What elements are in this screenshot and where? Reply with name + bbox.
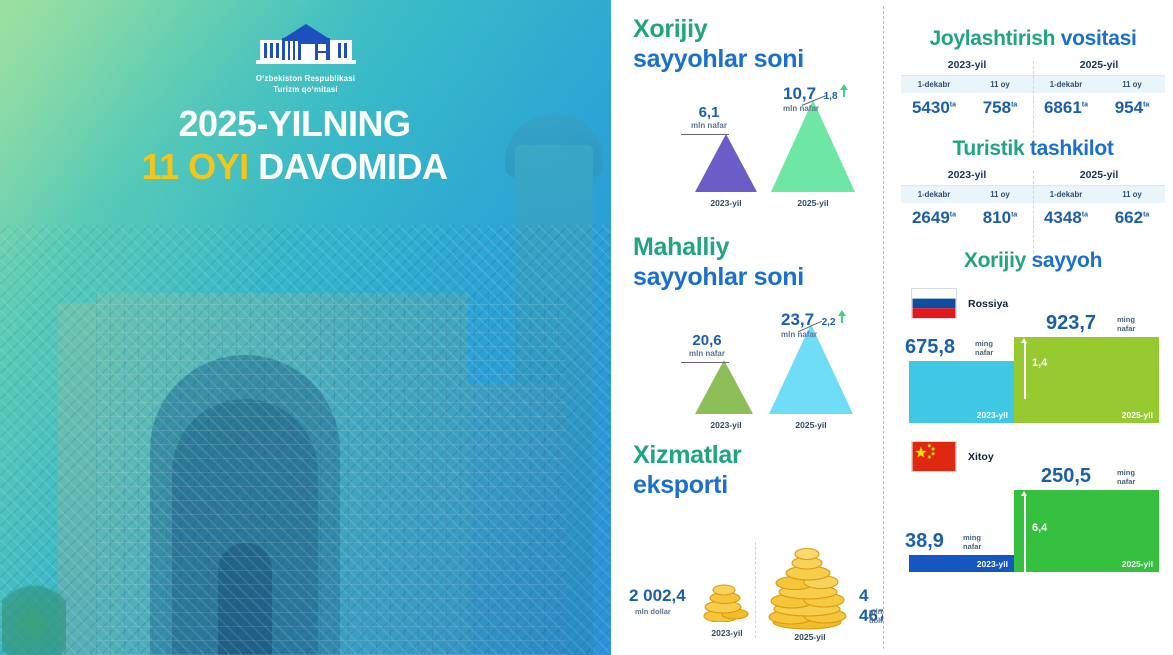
leader-line-2023 (681, 362, 729, 363)
value-3: 954 (1115, 98, 1143, 117)
color-overlay (0, 0, 611, 655)
sub-header-3: 11 oy (1099, 76, 1165, 93)
title-word-1: Xorijiy (633, 15, 707, 43)
headline-accent: 11 OYI (142, 146, 249, 187)
services-export-chart: 2 002,4 mln dollar 2023-yil (633, 534, 883, 644)
coin-stack-large-icon (765, 544, 855, 630)
title-word-2: sayyohlar soni (633, 263, 804, 291)
year-header-2023: 2023-yil (901, 169, 1033, 185)
arrow-up-icon (840, 84, 848, 97)
coin-stack-small-icon (699, 570, 759, 622)
xitoy-bar-chart: 2023-yil 2025-yil 6,4 38,9 mingnafar 250… (901, 480, 1165, 572)
rossiya-bar-chart: 2023-yil 2025-yil 1,4 675,8 mingnafar 92… (901, 325, 1165, 423)
foreign-tourists-chart: 6,1 mln nafar 2023-yil 10,7 1,8 mln nafa… (633, 82, 883, 214)
year-header-2025: 2025-yil (1033, 59, 1165, 75)
year-header-2023: 2023-yil (901, 59, 1033, 75)
xitoy-2023-value: 38,9 (905, 530, 944, 553)
foreign-growth-value: 1,8 (824, 91, 838, 102)
leader-line-2023 (681, 134, 729, 135)
committee-logo: O‘zbekiston Respublikasi Turizm qo‘mitas… (252, 22, 360, 95)
value-cell-3: 954ta (1099, 98, 1165, 118)
logo-line-2: Turizm qo‘mitasi (252, 85, 360, 96)
bar-year-2025: 2025-yil (1122, 410, 1153, 420)
right-column: Joylashtirish vositasi 2023-yil 2025-yil… (883, 0, 1173, 655)
logo-line-1: O‘zbekiston Respublikasi (252, 74, 360, 85)
section-foreign-tourists: Xorijiy sayyohlar soni 6,1 mln nafar 202… (633, 0, 883, 214)
sub-header-2: 1-dekabr (1033, 76, 1099, 93)
value-suffix-0: ta (950, 211, 956, 218)
bar-rossiya-2023: 2023-yil (909, 361, 1014, 423)
services-export-title: Xizmatlar eksporti (633, 440, 883, 500)
title-word-2: tashkilot (1030, 137, 1114, 160)
xitoy-growth-value: 6,4 (1032, 522, 1047, 534)
value-2: 6861 (1044, 98, 1082, 117)
value-cell-1: 810ta (967, 208, 1033, 228)
headline-line-2: 11 OYI DAVOMIDA (0, 145, 589, 189)
value-cell-3: 662ta (1099, 208, 1165, 228)
value-0: 5430 (912, 98, 950, 117)
section-services-export: Xizmatlar eksporti 2 002,4 mln dollar (633, 436, 883, 644)
accommodation-table: 2023-yil 2025-yil 1-dekabr 11 oy 1-dekab… (901, 59, 1165, 118)
hero-photo-panel: O‘zbekiston Respublikasi Turizm qo‘mitas… (0, 0, 611, 655)
title-word-2: sayyoh (1032, 249, 1103, 272)
services-2023-year: 2023-yil (689, 628, 765, 638)
foreign-2023-unit: mln nafar (673, 121, 745, 130)
local-2025-value: 23,7 (781, 310, 814, 329)
tour-organizations-table: 2023-yil 2025-yil 1-dekabr 11 oy 1-dekab… (901, 169, 1165, 228)
logo-caption: O‘zbekiston Respublikasi Turizm qo‘mitas… (252, 74, 360, 95)
services-2023-unit: mln dollar (635, 607, 671, 616)
china-flag-icon (911, 441, 957, 472)
logo-block: O‘zbekiston Respublikasi Turizm qo‘mitas… (0, 22, 611, 97)
local-2023-year: 2023-yil (681, 420, 771, 430)
headline-block: 2025-YILNING 11 OYI DAVOMIDA (0, 103, 611, 189)
foreign-2023-year: 2023-yil (681, 198, 771, 208)
value-suffix-0: ta (950, 101, 956, 108)
title-word-2: sayyohlar soni (633, 45, 804, 73)
title-word-1: Mahalliy (633, 233, 729, 261)
local-2025-year: 2025-yil (761, 420, 861, 430)
xitoy-2023-unit: mingnafar (963, 534, 1003, 551)
value-suffix-3: ta (1143, 211, 1149, 218)
accommodation-title: Joylashtirish vositasi (901, 26, 1165, 52)
local-growth-value: 2,2 (822, 317, 836, 328)
country-name-rossiya: Rossiya (968, 298, 1008, 310)
title-word-1: Joylashtirish (929, 27, 1055, 50)
foreign-2025-year: 2025-yil (763, 198, 863, 208)
rossiya-2023-value: 675,8 (905, 336, 955, 359)
bar-year-2025: 2025-yil (1122, 559, 1153, 569)
value-1: 758 (983, 98, 1011, 117)
title-word-2: eksporti (633, 471, 728, 499)
rossiya-2025-value: 923,7 (1046, 312, 1096, 335)
arrow-up-icon (1021, 491, 1027, 496)
foreign-2025-unit: mln nafar (783, 104, 893, 113)
value-suffix-2: ta (1082, 101, 1088, 108)
title-word-1: Xorijiy (964, 249, 1026, 272)
value-cell-0: 2649ta (901, 208, 967, 228)
value-suffix-1: ta (1011, 211, 1017, 218)
middle-column: Xorijiy sayyohlar soni 6,1 mln nafar 202… (611, 0, 883, 655)
title-word-1: Xizmatlar (633, 441, 741, 469)
triangle-bar-2025 (771, 100, 855, 192)
foreign-2025-value: 10,7 (783, 84, 816, 103)
foreign-tourists-title: Xorijiy sayyohlar soni (633, 14, 883, 74)
rossiya-2023-unit: mingnafar (975, 340, 1015, 357)
bar-xitoy-2023: 2023-yil (909, 555, 1014, 572)
section-foreign-tourist-countries: Xorijiy sayyoh Rossiya 2023-yil 2025-yil (883, 228, 1173, 572)
value-cell-2: 6861ta (1033, 98, 1099, 118)
arrow-up-icon (1021, 338, 1027, 343)
value-suffix-1: ta (1011, 101, 1017, 108)
sub-header-3: 11 oy (1099, 186, 1165, 203)
value-suffix-2: ta (1082, 211, 1088, 218)
country-name-xitoy: Xitoy (968, 451, 994, 463)
local-2023-value: 20,6 (692, 332, 721, 349)
foreign-2023-value: 6,1 (699, 104, 720, 121)
local-tourists-chart: 20,6 mln nafar 2023-yil 23,7 2,2 mln naf… (633, 308, 883, 436)
xitoy-2025-value: 250,5 (1041, 465, 1091, 488)
sub-header-2: 1-dekabr (1033, 186, 1099, 203)
infographic-page: O‘zbekiston Respublikasi Turizm qo‘mitas… (0, 0, 1173, 655)
local-tourists-title: Mahalliy sayyohlar soni (633, 232, 883, 292)
triangle-bar-2023 (695, 360, 753, 414)
sub-header-1: 11 oy (967, 186, 1033, 203)
year-header-2025: 2025-yil (1033, 169, 1165, 185)
value-3: 662 (1115, 208, 1143, 227)
triangle-bar-2023 (695, 134, 757, 192)
title-word-2: vositasi (1061, 27, 1137, 50)
sub-header-1: 11 oy (967, 76, 1033, 93)
growth-arrow-line (1024, 496, 1026, 572)
value-cell-1: 758ta (967, 98, 1033, 118)
value-suffix-3: ta (1143, 101, 1149, 108)
value-0: 2649 (912, 208, 950, 227)
services-2025-year: 2025-yil (769, 632, 851, 642)
madrasah-building-icon (252, 22, 360, 70)
local-2025-unit: mln nafar (781, 330, 893, 339)
section-local-tourists: Mahalliy sayyohlar soni 20,6 mln nafar 2… (633, 214, 883, 436)
rossiya-growth-value: 1,4 (1032, 357, 1047, 369)
value-cell-2: 4348ta (1033, 208, 1099, 228)
arrow-up-icon (838, 310, 846, 323)
xitoy-2025-unit: mingnafar (1117, 469, 1157, 486)
tour-organizations-title: Turistik tashkilot (901, 136, 1165, 162)
services-2023-value: 2 002,4 (629, 586, 686, 606)
value-cell-0: 5430ta (901, 98, 967, 118)
rossiya-2025-unit: mingnafar (1117, 316, 1157, 333)
bar-year-2023: 2023-yil (977, 410, 1008, 420)
bar-rossiya-2025: 2025-yil (1014, 337, 1159, 423)
section-tour-organizations: Turistik tashkilot 2023-yil 2025-yil 1-d… (883, 118, 1173, 228)
local-2023-unit: mln nafar (669, 349, 745, 358)
russia-flag-icon (911, 288, 957, 319)
sub-header-0: 1-dekabr (901, 76, 967, 93)
headline-line-1: 2025-YILNING (0, 103, 589, 145)
bar-year-2023: 2023-yil (977, 559, 1008, 569)
title-word-1: Turistik (952, 137, 1024, 160)
growth-arrow-line (1024, 343, 1026, 399)
value-2: 4348 (1044, 208, 1082, 227)
headline-rest: DAVOMIDA (258, 146, 447, 187)
table-center-divider (1033, 171, 1034, 253)
sub-header-0: 1-dekabr (901, 186, 967, 203)
value-1: 810 (983, 208, 1011, 227)
section-accommodation: Joylashtirish vositasi 2023-yil 2025-yil… (883, 0, 1173, 118)
